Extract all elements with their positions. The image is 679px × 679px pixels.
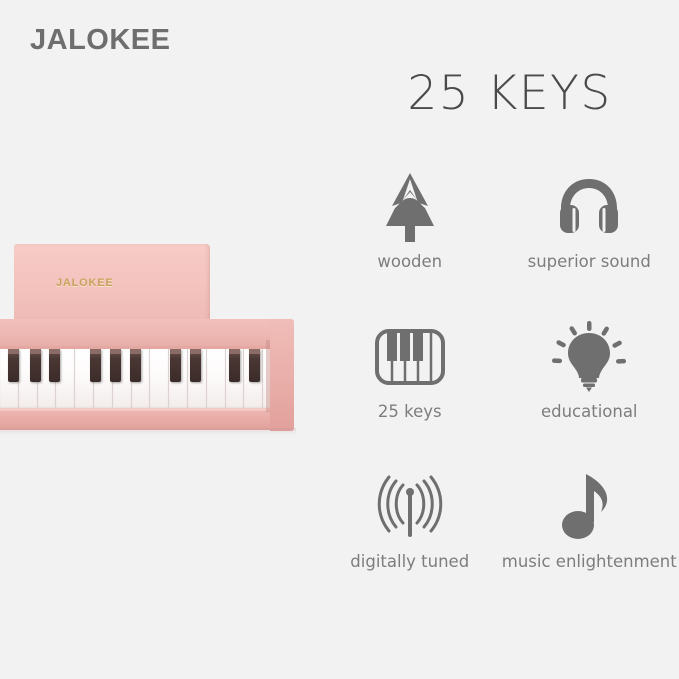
- pine-tree-icon: [379, 168, 441, 246]
- feature-label: superior sound: [528, 252, 651, 271]
- page-headline: 25 KEYS: [340, 66, 679, 121]
- antenna-signal-icon: [372, 468, 448, 546]
- black-key: [90, 349, 101, 382]
- black-key: [110, 349, 121, 382]
- black-key: [49, 349, 60, 382]
- feature-educational: educational: [500, 310, 679, 460]
- black-key: [170, 349, 181, 382]
- black-key: [30, 349, 41, 382]
- feature-grid: wooden superior sound: [320, 160, 679, 610]
- black-key: [249, 349, 260, 382]
- product-shadow: [0, 428, 296, 435]
- product-image: JALOKEE: [0, 236, 310, 456]
- feature-label: 25 keys: [378, 402, 442, 421]
- black-key: [130, 349, 141, 382]
- piano-side-cheek: [270, 319, 294, 431]
- music-note-icon: [557, 468, 621, 546]
- piano-stand-logo: JALOKEE: [56, 277, 114, 289]
- feature-label: digitally tuned: [350, 552, 469, 571]
- piano-front-rail: [0, 408, 290, 430]
- piano-keys-icon: [374, 318, 446, 396]
- lightbulb-icon: [552, 318, 626, 396]
- feature-label: music enlightenment: [502, 552, 677, 571]
- black-key: [190, 349, 201, 382]
- feature-superior-sound: superior sound: [500, 160, 679, 310]
- brand-logo: JALOKEE: [30, 24, 170, 57]
- feature-digitally-tuned: digitally tuned: [320, 460, 500, 610]
- feature-25-keys: 25 keys: [320, 310, 500, 460]
- feature-wooden: wooden: [320, 160, 500, 310]
- feature-music-enlightenment: music enlightenment: [500, 460, 679, 610]
- feature-label: educational: [541, 402, 638, 421]
- piano-black-keys: [0, 349, 282, 383]
- headphones-icon: [553, 168, 625, 246]
- piano-top-deck: [0, 319, 290, 349]
- black-key: [8, 349, 19, 382]
- feature-label: wooden: [377, 252, 442, 271]
- piano-keybed: [0, 349, 282, 409]
- piano-front-rail-highlight: [0, 408, 290, 411]
- black-key: [229, 349, 240, 382]
